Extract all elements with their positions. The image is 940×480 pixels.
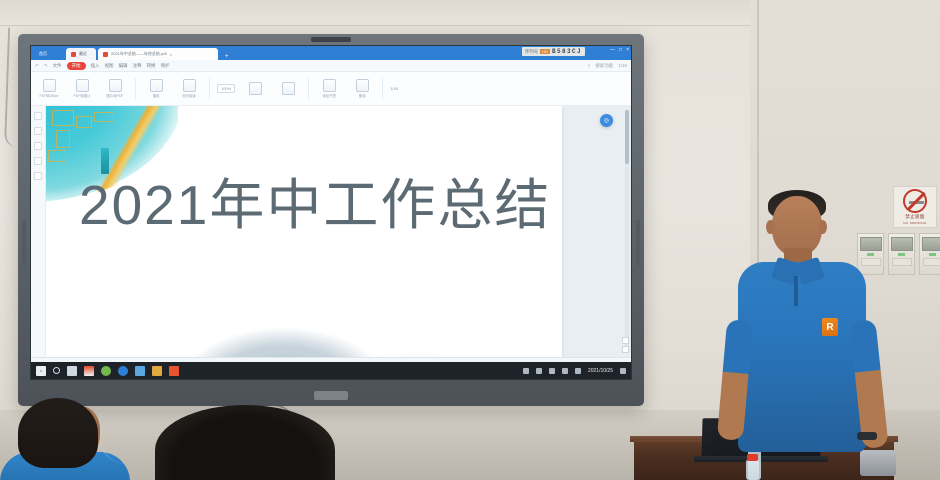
slide-mountain-art <box>46 246 562 357</box>
attachment-icon[interactable] <box>34 157 42 165</box>
audience-member-head <box>18 398 98 468</box>
comment-icon[interactable] <box>34 142 42 150</box>
menu-item-0[interactable]: 文件 <box>53 63 62 69</box>
serial-code: B583CJ <box>552 48 582 55</box>
ribbon-menu: ↶ ↷ 文件 开始 插入 视图 编辑 注释 转换 保护 ⌕ 搜索功能 1/16 <box>31 60 631 72</box>
menu-item-6[interactable]: 转换 <box>147 63 156 69</box>
tool-play[interactable]: 播放 <box>143 79 169 98</box>
file-explorer-icon[interactable] <box>84 366 94 376</box>
notification-icon[interactable] <box>620 368 626 374</box>
toolbar-divider <box>382 78 383 100</box>
close-icon[interactable]: × <box>626 47 629 53</box>
tool-zoom-in[interactable] <box>275 82 301 95</box>
tab-recent[interactable]: 最近 <box>66 48 96 60</box>
toolbar-divider <box>308 78 309 100</box>
no-smoking-label-en: NO SMOKING <box>903 221 927 225</box>
zoom-out-icon <box>249 82 262 95</box>
menu-item-7[interactable]: 保护 <box>161 63 170 69</box>
toolbar-divider <box>209 78 210 100</box>
scrollbar-thumb[interactable] <box>625 110 629 164</box>
presenter: R <box>710 190 900 480</box>
serial-badge: HD <box>540 49 550 54</box>
picture-pdf-icon <box>109 79 122 92</box>
tab-document[interactable]: 2021年中总结——年终总结.pdf × <box>98 48 218 60</box>
prev-page-icon[interactable] <box>622 337 629 344</box>
no-smoking-icon <box>903 189 927 213</box>
image-icon <box>76 79 89 92</box>
tool-label: 图片转PDF <box>107 93 124 98</box>
slide-title: 2021年中工作总结 <box>79 178 551 233</box>
page-nav-buttons <box>622 337 629 353</box>
document-scrollbar[interactable] <box>625 110 629 353</box>
signature-icon[interactable] <box>34 172 42 180</box>
tab-recent-label: 最近 <box>79 51 87 57</box>
tool-read-aloud[interactable]: 朗读 <box>349 79 375 98</box>
menu-item-2[interactable]: 插入 <box>91 63 100 69</box>
redo-icon[interactable]: ↷ <box>44 63 48 69</box>
folder-icon[interactable] <box>152 366 162 376</box>
bookmark-icon <box>323 79 336 92</box>
tab-close-icon[interactable]: × <box>170 52 172 57</box>
zoom-in-icon <box>282 82 295 95</box>
speaker-icon <box>356 79 369 92</box>
tool-bookmark[interactable]: 添加书签 <box>316 79 342 98</box>
tool-image-to-pdf[interactable]: 图片转PDF <box>102 79 128 98</box>
pdf-reader-icon[interactable] <box>169 366 179 376</box>
search-hint[interactable]: 搜索功能 <box>595 63 613 69</box>
notes-icon[interactable] <box>135 366 145 376</box>
shirt-logo: R <box>822 318 838 336</box>
new-tab-button[interactable]: + <box>220 54 234 60</box>
pdf-slide-page: 2021年中工作总结 <box>46 106 562 357</box>
sidebar-rail <box>31 106 46 357</box>
bezel-sensor-right <box>636 220 640 266</box>
undo-icon[interactable]: ↶ <box>35 63 39 69</box>
pdf-file-icon <box>103 52 108 57</box>
maximize-icon[interactable]: □ <box>619 47 622 53</box>
book-icon <box>183 79 196 92</box>
tab-home[interactable]: 首页 <box>34 48 64 60</box>
tool-label: PDF转图片 <box>74 93 91 98</box>
minimize-icon[interactable]: — <box>610 47 615 53</box>
slide-accent-bar <box>101 148 109 174</box>
tool-zoom-out[interactable] <box>242 82 268 95</box>
whiteboard-screen[interactable]: 首页 最近 2021年中总结——年终总结.pdf × + 序列号 HD B583… <box>30 45 632 380</box>
play-icon <box>150 79 163 92</box>
menu-item-4[interactable]: 编辑 <box>119 63 128 69</box>
page-indicator: 1/16 <box>390 86 398 91</box>
next-page-icon[interactable] <box>622 346 629 353</box>
taskbar-clock[interactable]: 2021/10/25 <box>588 368 613 374</box>
search-icon[interactable]: ⌕ <box>588 63 591 68</box>
battery-icon[interactable] <box>575 368 581 374</box>
presenter-polo-shirt <box>738 262 866 452</box>
tool-to-image[interactable]: PDF转图片 <box>69 79 95 98</box>
interactive-whiteboard[interactable]: 首页 最近 2021年中总结——年终总结.pdf × + 序列号 HD B583… <box>18 34 644 406</box>
document-canvas[interactable]: 2021年中工作总结 ◎ <box>46 106 631 357</box>
menu-item-5[interactable]: 注释 <box>133 63 142 69</box>
tool-label: 添加书签 <box>322 93 336 98</box>
ribbon-toolbar: PDF转Office PDF转图片 图片转PDF 播放 双页阅读 100% <box>31 72 631 106</box>
no-smoking-label-cn: 禁止吸烟 <box>905 214 924 220</box>
task-view-icon[interactable] <box>67 366 77 376</box>
circuit-line <box>76 116 92 128</box>
circuit-line <box>56 130 70 148</box>
network-icon[interactable] <box>536 368 542 374</box>
serial-prefix: 序列号 <box>525 49 539 55</box>
circuit-line <box>94 112 114 122</box>
app-tabbar: 首页 最近 2021年中总结——年终总结.pdf × + 序列号 HD B583… <box>31 46 631 60</box>
panel-led <box>929 253 936 256</box>
presenter-ear-left <box>766 220 775 234</box>
tool-dual-page[interactable]: 双页阅读 <box>176 79 202 98</box>
input-method-icon[interactable] <box>562 368 568 374</box>
bookmark-icon[interactable] <box>34 112 42 120</box>
windows-taskbar: 2021/10/25 <box>31 362 631 379</box>
presenter-head <box>772 196 822 256</box>
tool-label: PDF转Office <box>40 93 59 98</box>
chevron-up-icon[interactable] <box>523 368 529 374</box>
page-counter: 1/16 <box>618 63 627 68</box>
zoom-level-select[interactable]: 100% <box>217 84 235 93</box>
assistant-fab-button[interactable]: ◎ <box>600 114 613 127</box>
circuit-line <box>52 110 74 126</box>
toolbar-divider <box>135 78 136 100</box>
start-icon[interactable] <box>36 366 46 376</box>
circuit-line <box>48 150 66 162</box>
convert-icon <box>43 79 56 92</box>
tool-convert[interactable]: PDF转Office <box>36 79 62 98</box>
tab-document-label: 2021年中总结——年终总结.pdf <box>111 51 167 57</box>
panel-screen <box>922 237 940 251</box>
menu-item-1[interactable]: 开始 <box>67 62 86 70</box>
tool-label: 双页阅读 <box>182 93 196 98</box>
volume-icon[interactable] <box>549 368 555 374</box>
bezel-logo <box>314 391 348 400</box>
tool-label: 朗读 <box>359 93 366 98</box>
window-controls: — □ × <box>610 47 629 53</box>
wall-panel[interactable] <box>919 233 940 275</box>
presenter-placket <box>794 276 798 306</box>
presenter-wrist <box>857 432 877 440</box>
tool-label: 播放 <box>153 93 160 98</box>
search-icon[interactable] <box>53 367 60 374</box>
mail-icon[interactable] <box>118 366 128 376</box>
browser-icon[interactable] <box>101 366 111 376</box>
cigarette-icon <box>909 201 924 204</box>
presenter-ear-right <box>818 220 827 234</box>
thumbnail-icon[interactable] <box>34 127 42 135</box>
panel-button[interactable] <box>923 258 940 266</box>
menu-item-3[interactable]: 视图 <box>105 63 114 69</box>
bezel-sensor-left <box>22 220 26 266</box>
pdf-file-icon <box>71 52 76 57</box>
serial-number-plate: 序列号 HD B583CJ <box>522 47 585 56</box>
